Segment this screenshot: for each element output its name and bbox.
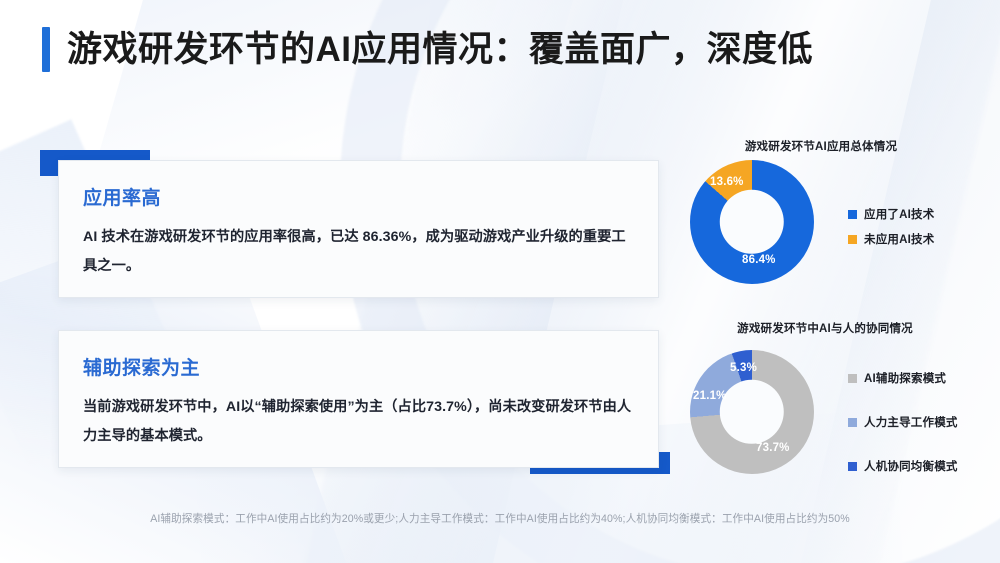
slice-label-balanced: 5.3% (730, 362, 757, 374)
legend-label: 人力主导工作模式 (864, 414, 958, 430)
legend-swatch-icon (848, 210, 857, 219)
page-title: 游戏研发环节的AI应用情况：覆盖面广，深度低 (42, 27, 813, 72)
legend-label: 人机协同均衡模式 (864, 458, 958, 474)
donut-chart: 86.4% 13.6% (690, 160, 814, 284)
legend-item[interactable]: 人力主导工作模式 (848, 414, 958, 430)
info-card-assisted-exploration: 辅助探索为主 当前游戏研发环节中，AI以“辅助探索使用”为主（占比73.7%），… (58, 330, 659, 468)
chart-ai-human-collaboration: 游戏研发环节中AI与人的协同情况 73.7% 21.1% 5.3% AI辅助探索… (690, 320, 990, 480)
chart-title: 游戏研发环节中AI与人的协同情况 (690, 320, 960, 336)
slice-label-not-applied: 13.6% (710, 176, 744, 188)
chart-legend: 应用了AI技术 未应用AI技术 (848, 206, 934, 256)
card-heading: 辅助探索为主 (83, 353, 200, 380)
card-heading: 应用率高 (83, 183, 161, 210)
card-body-text: AI 技术在游戏研发环节的应用率很高，已达 86.36%，成为驱动游戏产业升级的… (83, 223, 636, 281)
slice-label-human-led: 21.1% (693, 390, 727, 402)
legend-item[interactable]: 应用了AI技术 (848, 206, 934, 222)
legend-label: AI辅助探索模式 (864, 370, 946, 386)
card-body-text: 当前游戏研发环节中，AI以“辅助探索使用”为主（占比73.7%），尚未改变研发环… (83, 393, 636, 451)
title-text: 游戏研发环节的AI应用情况：覆盖面广，深度低 (67, 32, 813, 67)
legend-swatch-icon (848, 374, 857, 383)
legend-item[interactable]: 人机协同均衡模式 (848, 458, 958, 474)
legend-swatch-icon (848, 235, 857, 244)
title-accent-bar (42, 27, 50, 72)
chart-title: 游戏研发环节AI应用总体情况 (690, 138, 952, 154)
legend-item[interactable]: AI辅助探索模式 (848, 370, 958, 386)
slice-label-applied: 86.4% (742, 254, 776, 266)
chart-legend: AI辅助探索模式 人力主导工作模式 人机协同均衡模式 (848, 370, 958, 502)
legend-swatch-icon (848, 462, 857, 471)
footer-note: AI辅助探索模式：工作中AI使用占比约为20%或更少;人力主导工作模式：工作中A… (0, 511, 1000, 526)
info-card-application-rate: 应用率高 AI 技术在游戏研发环节的应用率很高，已达 86.36%，成为驱动游戏… (58, 160, 659, 298)
legend-swatch-icon (848, 418, 857, 427)
donut-chart: 73.7% 21.1% 5.3% (690, 350, 814, 474)
legend-label: 应用了AI技术 (864, 206, 934, 222)
slide: 游戏研发环节的AI应用情况：覆盖面广，深度低 应用率高 AI 技术在游戏研发环节… (0, 0, 1000, 563)
legend-item[interactable]: 未应用AI技术 (848, 231, 934, 247)
chart-ai-adoption-overview: 游戏研发环节AI应用总体情况 86.4% 13.6% 应用了AI技术 未应用AI… (690, 138, 990, 288)
legend-label: 未应用AI技术 (864, 231, 934, 247)
slice-label-ai-assisted: 73.7% (756, 442, 790, 454)
